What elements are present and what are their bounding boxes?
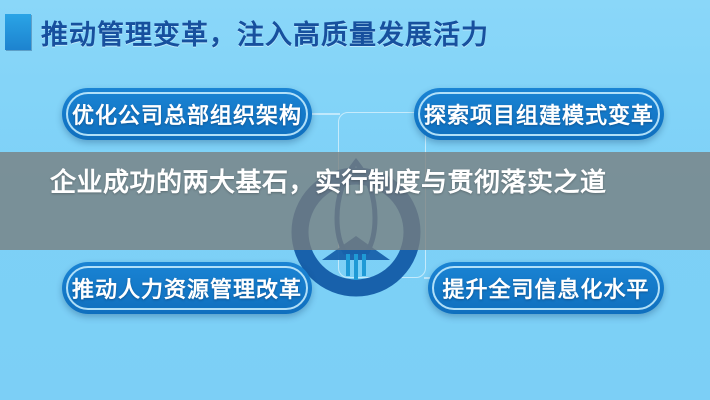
diagram-node-bottom-left[interactable]: 推动人力资源管理改革 [62, 262, 312, 314]
caption-text: 企业成功的两大基石，实行制度与贯彻落实之道 [50, 163, 660, 201]
page-title: 推动管理变革，注入高质量发展活力 [41, 13, 489, 52]
diagram-node-bottom-right[interactable]: 提升全司信息化水平 [428, 262, 664, 314]
slide-canvas: 推动管理变革，注入高质量发展活力 优化公司总部组织架构 探索项目组建模式变革 推… [0, 0, 710, 400]
accent-bar-icon [5, 14, 31, 50]
diagram-node-label: 探索项目组建模式变革 [424, 98, 654, 130]
diagram-node-top-right[interactable]: 探索项目组建模式变革 [414, 88, 664, 140]
diagram-node-label: 优化公司总部组织架构 [72, 98, 302, 130]
diagram-node-label: 推动人力资源管理改革 [72, 272, 302, 304]
connector-line-top-left [312, 113, 340, 115]
diagram-node-top-left[interactable]: 优化公司总部组织架构 [62, 88, 312, 140]
diagram-node-label: 提升全司信息化水平 [442, 272, 649, 304]
header: 推动管理变革，注入高质量发展活力 [0, 6, 710, 58]
